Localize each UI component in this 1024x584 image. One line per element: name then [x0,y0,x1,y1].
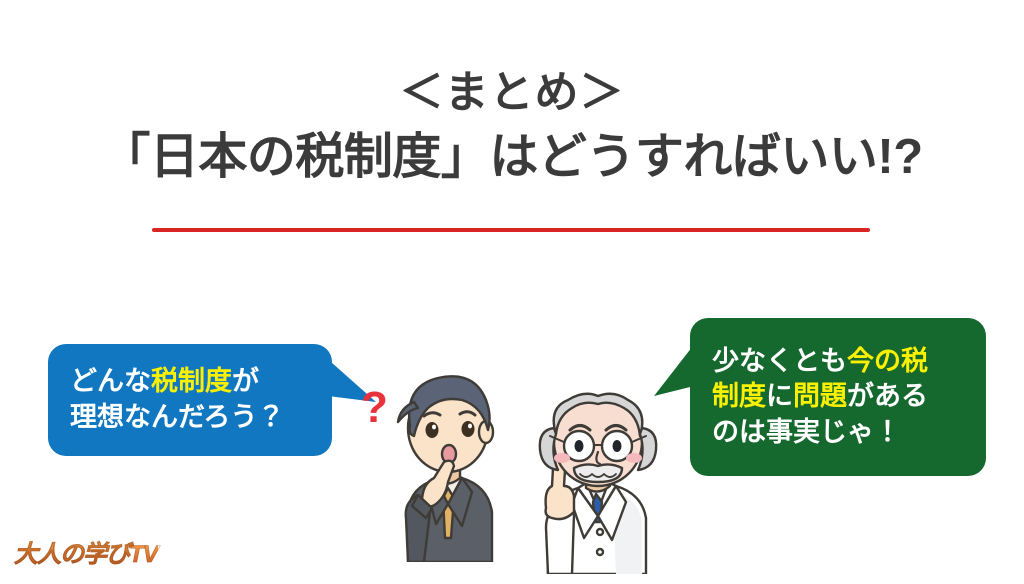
channel-watermark: 大人の学びTV [14,534,158,569]
green-bubble-seg-3: がある [847,381,928,411]
page-title: ＜まとめ＞ 「日本の税制度」はどうすればいい!? [0,68,1024,188]
green-bubble-seg-1: 少なくとも [712,346,847,376]
green-bubble-seg-2: に [766,381,793,411]
blue-speech-bubble: どんな税制度が 理想なんだろう？ [48,344,332,456]
green-bubble-line-1: 少なくとも今の税 [712,344,986,380]
green-speech-bubble: 少なくとも今の税 制度に問題がある のは事実じゃ！ [690,318,986,476]
title-line-2: 「日本の税制度」はどうすればいい!? [0,127,1024,188]
slide-canvas: ＜まとめ＞ 「日本の税制度」はどうすればいい!? どんな税制度が 理想なんだろう… [0,0,1024,584]
title-line-1: ＜まとめ＞ [0,68,1024,119]
green-bubble-highlight-1: 今の税 [847,346,928,376]
green-bubble-highlight-3: 問題 [793,381,847,411]
blue-bubble-seg-3: 理想なんだろう？ [70,402,284,432]
green-bubble-seg-4: のは事実じゃ！ [712,417,901,447]
green-bubble-line-3: のは事実じゃ！ [712,415,986,451]
blue-bubble-line-2: 理想なんだろう？ [70,400,332,436]
green-bubble-highlight-2: 制度 [712,381,766,411]
title-underline-rule [152,228,870,232]
green-bubble-line-2: 制度に問題がある [712,379,986,415]
blue-bubble-seg-2: が [232,366,259,396]
blue-bubble-line-1: どんな税制度が [70,364,332,400]
blue-bubble-seg-1: どんな [70,366,151,396]
businessman-character [378,362,518,562]
blue-bubble-highlight-1: 税制度 [151,366,232,396]
professor-character [512,390,682,574]
